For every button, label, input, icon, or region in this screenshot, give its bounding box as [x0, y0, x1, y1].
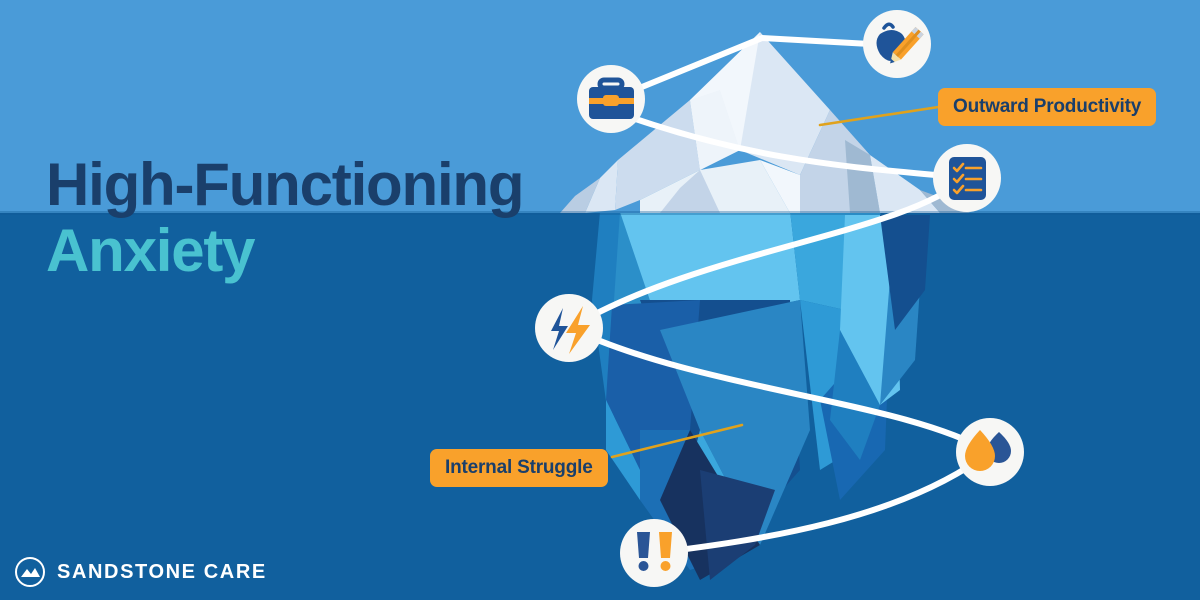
brand-logo[interactable]: SANDSTONE CARE [14, 556, 267, 588]
label-outward-productivity: Outward Productivity [938, 88, 1156, 126]
exclamation-marks-icon[interactable] [620, 519, 688, 587]
briefcase-icon[interactable] [577, 65, 645, 133]
waterline [0, 211, 1200, 215]
infographic-canvas: High-Functioning Anxiety Outward Product… [0, 0, 1200, 600]
lightning-bolts-icon[interactable] [535, 294, 603, 362]
brand-name: SANDSTONE CARE [57, 561, 267, 584]
water-droplets-icon[interactable] [956, 418, 1024, 486]
mountain-circle-icon [14, 556, 46, 588]
apple-pencil-icon[interactable] [863, 10, 931, 78]
label-internal-struggle: Internal Struggle [430, 449, 608, 487]
checklist-icon[interactable] [933, 144, 1001, 212]
